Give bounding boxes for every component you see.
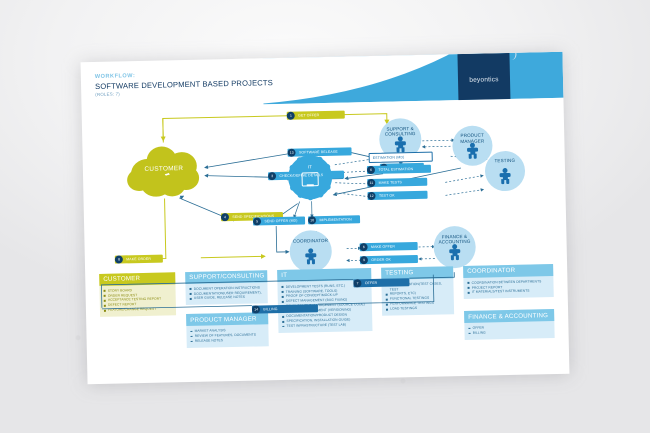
workflow-diagram: CUSTOMER SUPPORT &CONSULTING PRODUCTMANA… <box>82 98 568 274</box>
legend-list-finance: OFFER BILLING <box>464 321 554 340</box>
step-label: MAKE OFFER <box>368 245 398 250</box>
step-label: ESTIMATION (MD) <box>370 155 408 160</box>
step-number: 3 <box>268 172 277 181</box>
person-icon <box>394 136 407 152</box>
list-item: BILLING <box>468 329 550 336</box>
step-label: TEST OK <box>376 194 398 198</box>
step-label: TOTAL ESTIMATION <box>375 167 416 172</box>
step-number: 8 <box>115 255 124 264</box>
step-5-send-offer-md[interactable]: 5 SEND OFFER (MD) <box>253 216 305 226</box>
step-9-order-ok[interactable]: 9 ORDER OK <box>360 255 418 265</box>
step-8-make-order[interactable]: 8 MAKE ORDER <box>115 255 163 264</box>
step-number: 13 <box>287 149 296 158</box>
step-estimation-md[interactable]: ESTIMATION (MD) <box>369 152 433 164</box>
step-6-make-offer[interactable]: 6 MAKE OFFER <box>360 242 418 252</box>
step-label: BILLING <box>260 307 280 311</box>
step-label: SEND OFFER (MD) <box>261 219 300 224</box>
node-coordinator-label: COORDINATOR <box>291 237 331 244</box>
node-customer[interactable]: CUSTOMER <box>126 144 201 198</box>
poster-title-block: WORKFLOW: SOFTWARE DEVELOPMENT BASED PRO… <box>95 70 273 97</box>
step-number: 10 <box>308 216 317 225</box>
person-icon <box>304 248 317 264</box>
step-number: 12 <box>367 192 376 201</box>
step-label: MAKE TESTS <box>376 180 405 185</box>
bottom-connectors <box>85 264 568 331</box>
person-icon <box>466 142 479 158</box>
person-icon <box>448 244 461 260</box>
step-label: IMPLEMENTATION <box>316 218 354 223</box>
brand-logo-text: beyontics <box>469 76 498 84</box>
step-7-offer[interactable]: 7 OFFER <box>353 278 409 288</box>
workflow-poster: beyontics WORKFLOW: SOFTWARE DEVELOPMENT… <box>81 52 570 384</box>
step-10-implementation[interactable]: 10 IMPLEMENTATION <box>308 215 360 225</box>
step-number: 6 <box>367 166 376 175</box>
step-number: 7 <box>353 279 362 288</box>
node-testing-label: TESTING <box>486 158 524 165</box>
step-number: 5 <box>253 217 262 226</box>
monitor-stand-icon <box>307 184 314 186</box>
step-number: 14 <box>252 305 261 314</box>
node-it-label: IT <box>288 164 332 170</box>
step-number: 9 <box>360 256 369 265</box>
step-number: 1 <box>287 112 296 121</box>
person-icon <box>498 167 511 183</box>
list-item-cont: RELEASE NOTES <box>191 337 265 344</box>
step-label: SOFTWARE RELEASE <box>296 150 341 155</box>
step-label: OFFER <box>362 281 381 285</box>
step-label: MAKE ORDER <box>123 257 154 262</box>
step-number: 6 <box>360 243 369 252</box>
step-label: ORDER OK <box>368 258 394 263</box>
step-number: 11 <box>367 179 376 188</box>
step-label: GET OFFER <box>295 113 322 118</box>
logo-box: beyontics <box>457 53 510 106</box>
step-number: 4 <box>221 213 230 222</box>
